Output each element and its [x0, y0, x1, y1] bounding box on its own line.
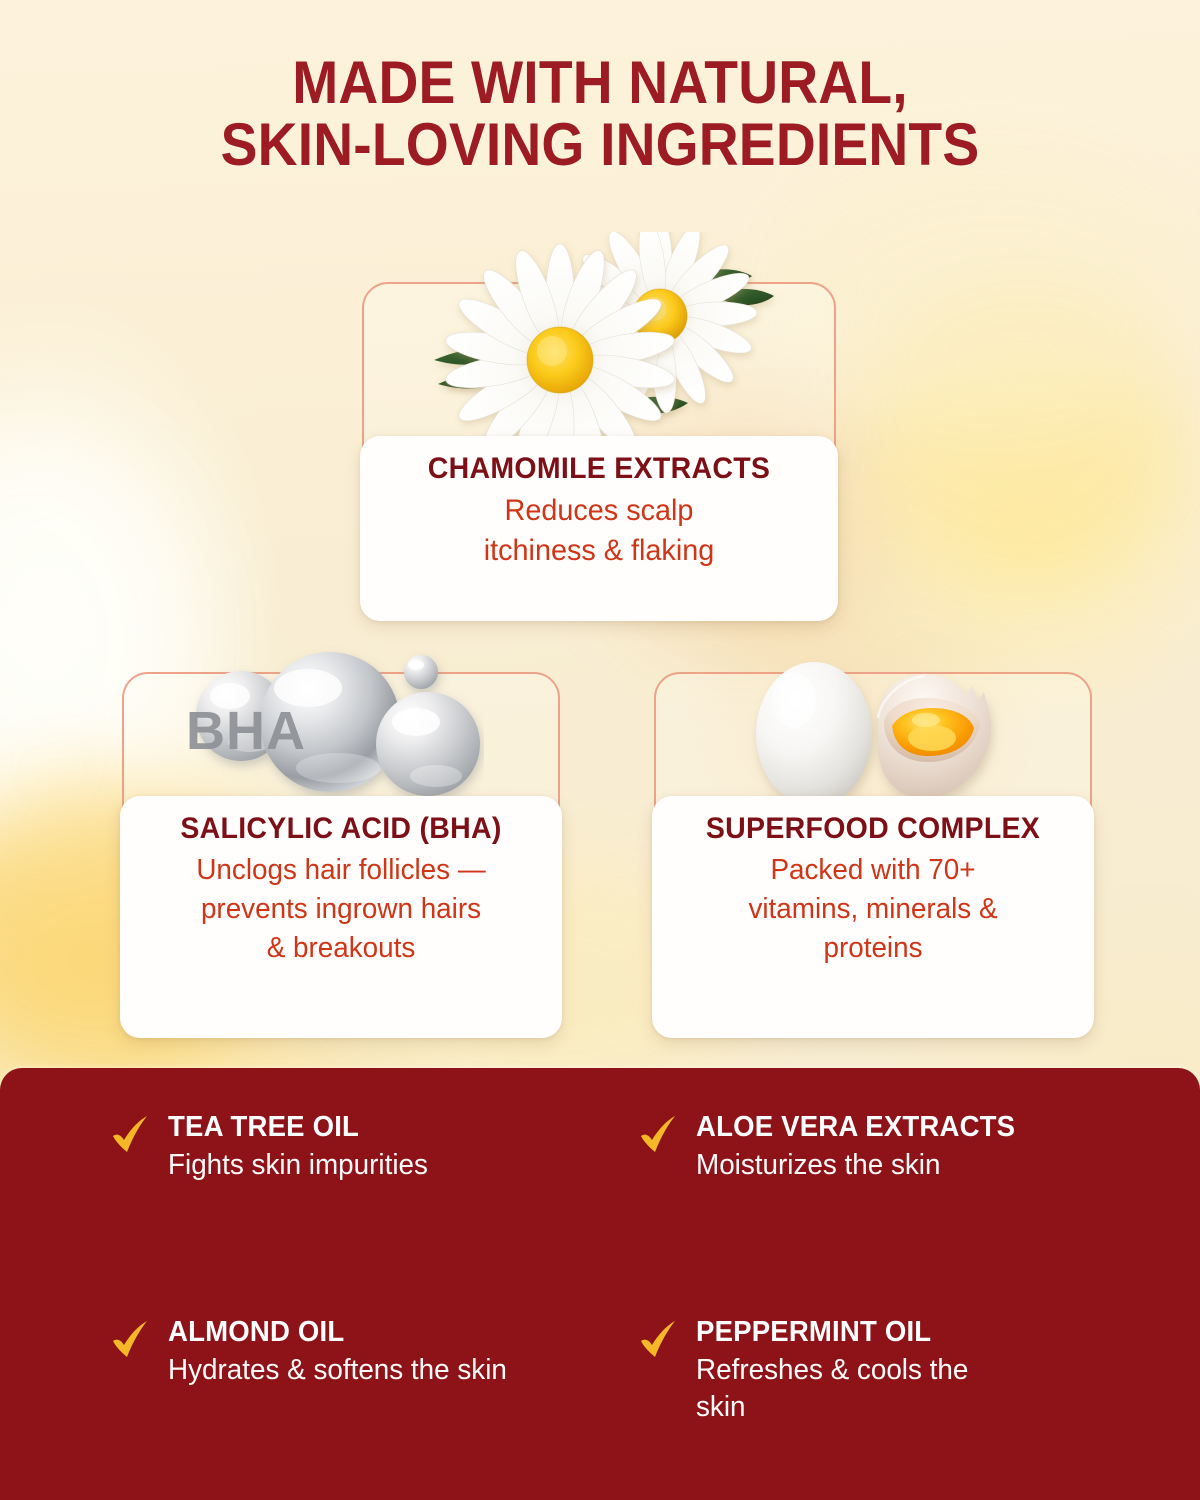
- benefit-description: Moisturizes the skin: [696, 1147, 1019, 1184]
- benefit-text-block: PEPPERMINT OIL Refreshes & cools the ski…: [696, 1315, 1026, 1425]
- benefit-item-tea-tree-oil: TEA TREE OIL Fights skin impurities: [110, 1110, 612, 1291]
- ingredient-card-superfood-complex: SUPERFOOD COMPLEX Packed with 70+ vitami…: [654, 672, 1092, 1038]
- superfood-text-panel: SUPERFOOD COMPLEX Packed with 70+ vitami…: [652, 796, 1094, 1038]
- benefits-grid: TEA TREE OIL Fights skin impurities ALOE…: [0, 1068, 1200, 1500]
- benefit-text-block: ALMOND OIL Hydrates & softens the skin: [168, 1315, 521, 1389]
- bha-bubble-main: [260, 652, 400, 792]
- benefit-title: PEPPERMINT OIL: [696, 1315, 1010, 1349]
- salicylic-acid-text-panel: SALICYLIC ACID (BHA) Unclogs hair follic…: [120, 796, 562, 1038]
- benefit-description: Refreshes & cools the skin: [696, 1352, 1013, 1425]
- superfood-description: Packed with 70+ vitamins, minerals & pro…: [674, 851, 1071, 968]
- page-headline: MADE WITH NATURAL, SKIN-LOVING INGREDIEN…: [48, 52, 1152, 177]
- chamomile-title: CHAMOMILE EXTRACTS: [385, 452, 813, 485]
- cracked-eggshell: [878, 674, 991, 798]
- chamomile-text-panel: CHAMOMILE EXTRACTS Reduces scalp itchine…: [360, 436, 838, 621]
- checkmark-icon: [638, 1319, 678, 1361]
- benefit-text-block: TEA TREE OIL Fights skin impurities: [168, 1110, 439, 1184]
- checkmark-icon: [638, 1114, 678, 1156]
- benefit-item-peppermint-oil: PEPPERMINT OIL Refreshes & cools the ski…: [638, 1315, 1140, 1425]
- benefit-text-block: ALOE VERA EXTRACTS Moisturizes the skin: [696, 1110, 1032, 1184]
- bg-blob-topright: [780, 160, 1200, 420]
- benefit-item-almond-oil: ALMOND OIL Hydrates & softens the skin: [110, 1315, 612, 1389]
- checkmark-icon: [110, 1319, 150, 1361]
- benefit-item-aloe-vera-extracts: ALOE VERA EXTRACTS Moisturizes the skin: [638, 1110, 1140, 1291]
- bha-label-text: BHA: [186, 700, 306, 762]
- superfood-title: SUPERFOOD COMPLEX: [676, 812, 1069, 845]
- headline-line-1: MADE WITH NATURAL,: [48, 52, 1152, 114]
- chamomile-leaves: [434, 269, 774, 413]
- chamomile-description: Reduces scalp itchiness & flaking: [383, 491, 815, 571]
- benefits-banner: TEA TREE OIL Fights skin impurities ALOE…: [0, 1068, 1200, 1500]
- benefit-title: TEA TREE OIL: [168, 1110, 425, 1144]
- bha-bubble-left: [196, 671, 286, 761]
- ingredient-card-chamomile: CHAMOMILE EXTRACTS Reduces scalp itchine…: [362, 282, 836, 618]
- benefit-title: ALMOND OIL: [168, 1315, 503, 1349]
- whole-egg: [756, 662, 872, 806]
- bha-bubble-right: [376, 692, 480, 796]
- benefit-title: ALOE VERA EXTRACTS: [696, 1110, 1015, 1144]
- salicylic-acid-description: Unclogs hair follicles — prevents ingrow…: [142, 851, 539, 968]
- benefit-description: Fights skin impurities: [168, 1147, 428, 1184]
- checkmark-icon: [110, 1114, 150, 1156]
- headline-line-2: SKIN-LOVING INGREDIENTS: [48, 114, 1152, 176]
- benefit-description: Hydrates & softens the skin: [168, 1352, 507, 1389]
- salicylic-acid-title: SALICYLIC ACID (BHA): [144, 812, 537, 845]
- ingredient-card-salicylic-acid: BHA SALICYLIC ACID (BHA) Unclogs hair fo…: [122, 672, 560, 1038]
